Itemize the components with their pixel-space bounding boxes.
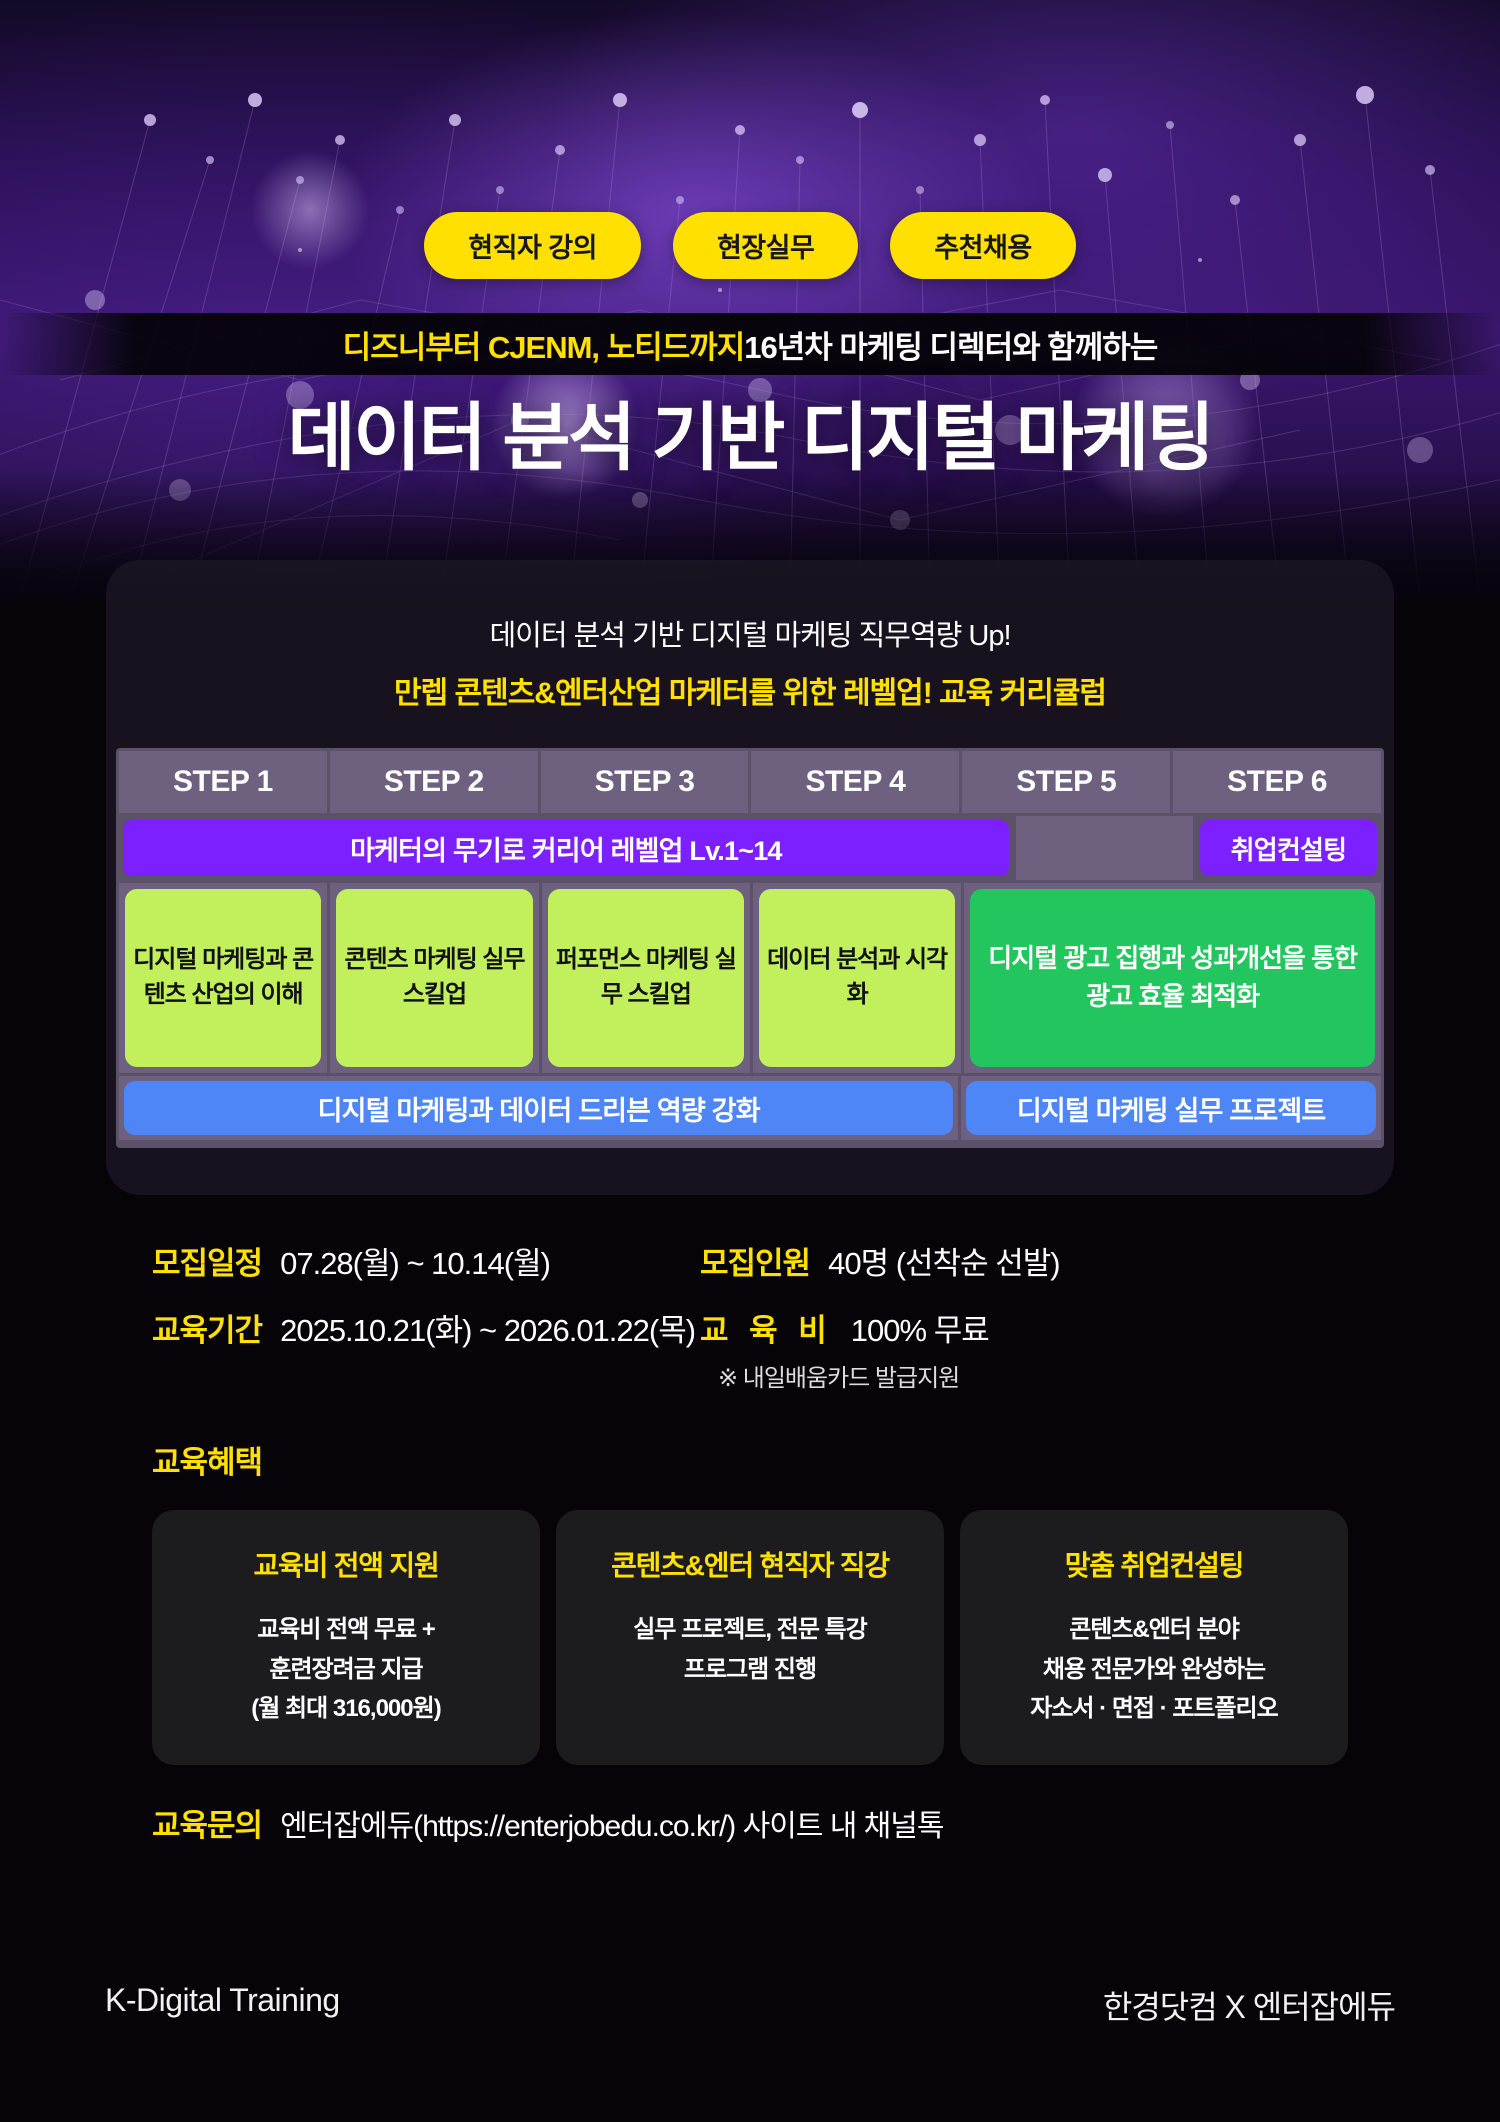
benefit-card-2: 콘텐츠&엔터 현직자 직강 실무 프로젝트, 전문 특강 프로그램 진행: [556, 1510, 944, 1765]
blue-cell-right: 디지털 마케팅 실무 프로젝트: [961, 1076, 1381, 1140]
benefit-card-3: 맞춤 취업컨설팅 콘텐츠&엔터 분야 채용 전문가와 완성하는 자소서 · 면접…: [960, 1510, 1348, 1765]
benefits-section-title: 교육혜택: [152, 1437, 262, 1482]
benefit-card-1: 교육비 전액 지원 교육비 전액 무료 + 훈련장려금 지급 (월 최대 316…: [152, 1510, 540, 1765]
benefit-card-1-line-1: 훈련장려금 지급: [166, 1650, 526, 1690]
benefits-card-row: 교육비 전액 지원 교육비 전액 무료 + 훈련장려금 지급 (월 최대 316…: [152, 1510, 1348, 1765]
course-box-3: 퍼포먼스 마케팅 실무 스킬업: [548, 889, 744, 1067]
tuition-label: 교 육 비: [700, 1305, 833, 1350]
hero-headline: 데이터 분석 기반 디지털 마케팅: [0, 378, 1500, 485]
benefit-card-3-line-2: 자소서 · 면접 · 포트폴리오: [974, 1689, 1334, 1729]
course-box-4: 데이터 분석과 시각화: [759, 889, 955, 1067]
tuition-note: ※ 내일배움카드 발급지원: [718, 1358, 959, 1393]
step-header-row: STEP 1 STEP 2 STEP 3 STEP 4 STEP 5 STEP …: [119, 751, 1381, 813]
benefit-card-1-line-0: 교육비 전액 무료 +: [166, 1610, 526, 1650]
info-row-2: 교육기간 2025.10.21(화) ~ 2026.01.22(목) 교 육 비…: [0, 1305, 1500, 1393]
blue-bar-left: 디지털 마케팅과 데이터 드리븐 역량 강화: [124, 1081, 953, 1135]
benefit-card-2-line-0: 실무 프로젝트, 전문 특강: [570, 1610, 930, 1650]
curriculum-grid: STEP 1 STEP 2 STEP 3 STEP 4 STEP 5 STEP …: [116, 748, 1384, 1148]
course-box-row: 디지털 마케팅과 콘텐츠 산업의 이해 콘텐츠 마케팅 실무 스킬업 퍼포먼스 …: [119, 883, 1381, 1073]
badge-item-0[interactable]: 현직자 강의: [424, 212, 641, 279]
hero-subtitle-rest: 16년차 마케팅 디렉터와 함께하는: [744, 322, 1157, 367]
network-background-graphic: [0, 0, 1500, 600]
badge-item-2[interactable]: 추천채용: [890, 212, 1075, 279]
course-cell-1: 디지털 마케팅과 콘텐츠 산업의 이해: [119, 883, 327, 1073]
training-period-label: 교육기간: [152, 1305, 262, 1350]
footer-organizers: 한경닷컴 X 엔터잡에듀: [1103, 1982, 1395, 2028]
badge-row: 현직자 강의 현장실무 추천채용: [0, 212, 1500, 279]
blue-bar-row: 디지털 마케팅과 데이터 드리븐 역량 강화 디지털 마케팅 실무 프로젝트: [119, 1076, 1381, 1140]
tuition-value: 100% 무료: [851, 1305, 989, 1350]
badge-item-1[interactable]: 현장실무: [673, 212, 858, 279]
benefit-card-2-title: 콘텐츠&엔터 현직자 직강: [570, 1544, 930, 1584]
step-header-3: STEP 3: [541, 751, 749, 813]
course-box-1: 디지털 마케팅과 콘텐츠 산업의 이해: [125, 889, 321, 1067]
contact-label: 교육문의: [152, 1800, 262, 1845]
benefit-card-3-body: 콘텐츠&엔터 분야 채용 전문가와 완성하는 자소서 · 면접 · 포트폴리오: [974, 1610, 1334, 1729]
info-section: 모집일정 07.28(월) ~ 10.14(월) 모집인원 40명 (선착순 선…: [0, 1238, 1500, 1415]
contact-row: 교육문의 엔터잡에듀(https://enterjobedu.co.kr/) 사…: [152, 1800, 943, 1845]
tuition-group: 교 육 비 100% 무료 ※ 내일배움카드 발급지원: [700, 1305, 1500, 1393]
headcount-group: 모집인원 40명 (선착순 선발): [700, 1238, 1500, 1283]
step-header-4: STEP 4: [751, 751, 959, 813]
curriculum-lead-line1: 데이터 분석 기반 디지털 마케팅 직무역량 Up!: [106, 612, 1394, 654]
hero-subtitle: 디즈니부터 CJENM, 노티드까지 16년차 마케팅 디렉터와 함께하는: [0, 313, 1500, 375]
course-cell-4: 데이터 분석과 시각화: [753, 883, 961, 1073]
course-cell-2: 콘텐츠 마케팅 실무 스킬업: [330, 883, 538, 1073]
hero-banner: [0, 0, 1500, 600]
info-row-1: 모집일정 07.28(월) ~ 10.14(월) 모집인원 40명 (선착순 선…: [0, 1238, 1500, 1283]
benefit-card-2-body: 실무 프로젝트, 전문 특강 프로그램 진행: [570, 1610, 930, 1689]
step-header-6: STEP 6: [1173, 751, 1381, 813]
benefit-card-1-title: 교육비 전액 지원: [166, 1544, 526, 1584]
training-period-group: 교육기간 2025.10.21(화) ~ 2026.01.22(목): [0, 1305, 700, 1350]
headcount-label: 모집인원: [700, 1238, 810, 1283]
step-header-5: STEP 5: [962, 751, 1170, 813]
level-bar-row: 마케터의 무기로 커리어 레벨업 Lv.1~14 취업컨설팅: [119, 816, 1381, 880]
recruit-period-value: 07.28(월) ~ 10.14(월): [280, 1238, 550, 1283]
headcount-value: 40명 (선착순 선발): [828, 1238, 1059, 1283]
step-header-1: STEP 1: [119, 751, 327, 813]
benefit-card-3-line-1: 채용 전문가와 완성하는: [974, 1650, 1334, 1690]
level-bar: 마케터의 무기로 커리어 레벨업 Lv.1~14: [123, 820, 1009, 876]
course-cell-3: 퍼포먼스 마케팅 실무 스킬업: [542, 883, 750, 1073]
benefit-card-2-line-1: 프로그램 진행: [570, 1650, 930, 1690]
curriculum-lead-line2: 만렙 콘텐츠&엔터산업 마케터를 위한 레벨업! 교육 커리큘럼: [106, 668, 1394, 712]
benefit-card-3-title: 맞춤 취업컨설팅: [974, 1544, 1334, 1584]
poster-root: 현직자 강의 현장실무 추천채용 디즈니부터 CJENM, 노티드까지 16년차…: [0, 0, 1500, 2122]
blue-cell-left: 디지털 마케팅과 데이터 드리븐 역량 강화: [119, 1076, 958, 1140]
benefit-card-1-line-2: (월 최대 316,000원): [166, 1689, 526, 1729]
consulting-bar: 취업컨설팅: [1200, 820, 1377, 876]
contact-value[interactable]: 엔터잡에듀(https://enterjobedu.co.kr/) 사이트 내 …: [280, 1801, 943, 1845]
course-box-2: 콘텐츠 마케팅 실무 스킬업: [336, 889, 532, 1067]
blue-bar-right: 디지털 마케팅 실무 프로젝트: [966, 1081, 1376, 1135]
curriculum-panel: 데이터 분석 기반 디지털 마케팅 직무역량 Up! 만렙 콘텐츠&엔터산업 마…: [106, 560, 1394, 1195]
benefit-card-3-line-0: 콘텐츠&엔터 분야: [974, 1610, 1334, 1650]
recruit-period-label: 모집일정: [152, 1238, 262, 1283]
recruit-period-group: 모집일정 07.28(월) ~ 10.14(월): [0, 1238, 700, 1283]
footer-program-name: K-Digital Training: [105, 1982, 340, 2019]
course-cell-5: 디지털 광고 집행과 성과개선을 통한 광고 효율 최적화: [964, 883, 1381, 1073]
level-row-spacer: [1016, 816, 1193, 880]
training-period-value: 2025.10.21(화) ~ 2026.01.22(목): [280, 1305, 695, 1350]
course-box-5: 디지털 광고 집행과 성과개선을 통한 광고 효율 최적화: [970, 889, 1375, 1067]
hero-subtitle-highlight: 디즈니부터 CJENM, 노티드까지: [343, 322, 745, 367]
step-header-2: STEP 2: [330, 751, 538, 813]
benefit-card-1-body: 교육비 전액 무료 + 훈련장려금 지급 (월 최대 316,000원): [166, 1610, 526, 1729]
